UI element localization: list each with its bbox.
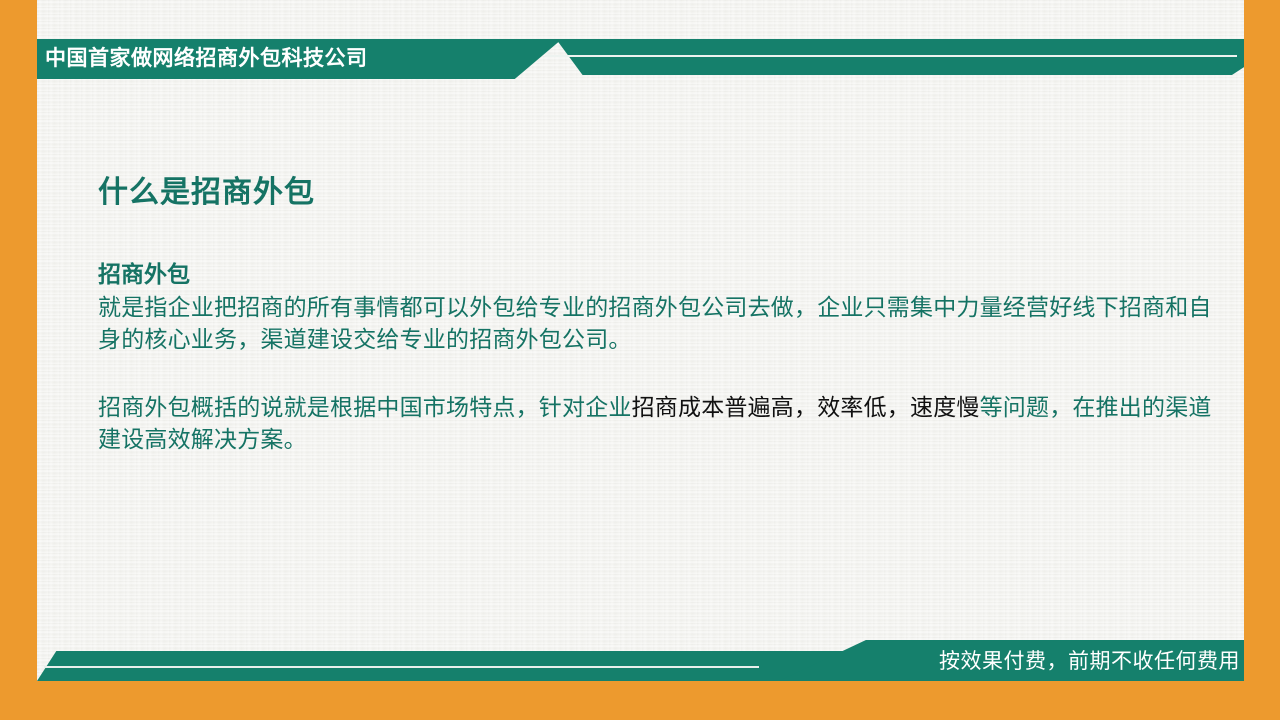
summary-text-highlight: 招商成本普遍高，效率低，速度慢 [632,394,980,420]
paper-bottom-orange-cut [37,681,1244,720]
page-title: 什么是招商外包 [98,175,1218,211]
header-title: 中国首家做网络招商外包科技公司 [45,44,515,74]
summary-paragraph: 招商外包概括的说就是根据中国市场特点，针对企业招商成本普遍高，效率低，速度慢等问… [98,391,1218,455]
definition-paragraph: 就是指企业把招商的所有事情都可以外包给专业的招商外包公司去做，企业只需集中力量经… [98,291,1218,355]
header-hairline-divider [545,55,1237,57]
summary-text-part-1: 招商外包概括的说就是根据中国市场特点，针对企业 [98,394,632,420]
definition-term: 招商外包 [98,259,1218,289]
main-content: 什么是招商外包 招商外包 就是指企业把招商的所有事情都可以外包给专业的招商外包公… [98,175,1218,455]
footer-hairline-divider [44,666,759,668]
slide-root: 中国首家做网络招商外包科技公司 什么是招商外包 招商外包 就是指企业把招商的所有… [0,0,1280,720]
footer-tagline: 按效果付费，前期不收任何费用 [939,648,1240,676]
